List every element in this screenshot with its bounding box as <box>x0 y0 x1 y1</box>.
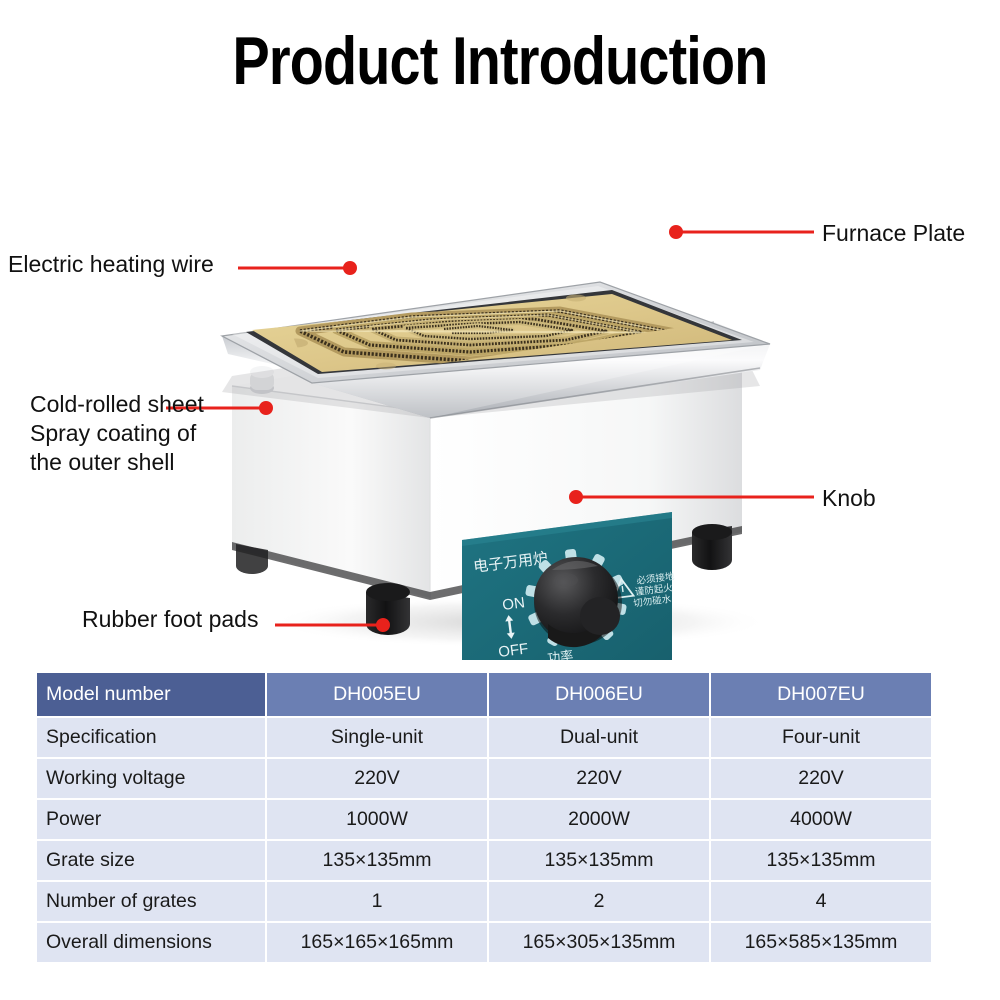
row-value: 165×585×135mm <box>711 923 931 962</box>
table-row: Overall dimensions 165×165×165mm 165×305… <box>37 923 931 962</box>
table-header-dh006eu: DH006EU <box>489 673 709 716</box>
table-row: Working voltage 220V 220V 220V <box>37 759 931 798</box>
panel-on-label: ON <box>501 594 525 614</box>
table-header-row: Model number DH005EU DH006EU DH007EU <box>37 673 931 716</box>
row-label: Power <box>37 800 265 839</box>
table-body: Specification Single-unit Dual-unit Four… <box>37 718 931 962</box>
table-row: Grate size 135×135mm 135×135mm 135×135mm <box>37 841 931 880</box>
row-value: 220V <box>711 759 931 798</box>
row-value: 165×165×165mm <box>267 923 487 962</box>
row-value: Dual-unit <box>489 718 709 757</box>
table-header-model-number: Model number <box>37 673 265 716</box>
callout-cold-rolled-sheet: Cold-rolled sheet Spray coating of the o… <box>30 390 204 477</box>
row-value: 4000W <box>711 800 931 839</box>
table-row: Specification Single-unit Dual-unit Four… <box>37 718 931 757</box>
row-label: Grate size <box>37 841 265 880</box>
row-value: 165×305×135mm <box>489 923 709 962</box>
row-value: 135×135mm <box>711 841 931 880</box>
row-label: Working voltage <box>37 759 265 798</box>
row-value: 135×135mm <box>267 841 487 880</box>
row-value: Single-unit <box>267 718 487 757</box>
callout-knob: Knob <box>822 484 876 513</box>
table-header-dh005eu: DH005EU <box>267 673 487 716</box>
row-value: 1 <box>267 882 487 921</box>
row-value: 2000W <box>489 800 709 839</box>
table-row: Power 1000W 2000W 4000W <box>37 800 931 839</box>
row-value: Four-unit <box>711 718 931 757</box>
rubber-foot-right <box>692 524 732 570</box>
panel-off-label: OFF <box>497 640 529 660</box>
table-header-dh007eu: DH007EU <box>711 673 931 716</box>
row-value: 220V <box>489 759 709 798</box>
callout-furnace-plate: Furnace Plate <box>822 219 965 248</box>
row-value: 4 <box>711 882 931 921</box>
row-value: 135×135mm <box>489 841 709 880</box>
product-illustration: 电子万用炉 ON OFF <box>0 100 1000 660</box>
row-label: Specification <box>37 718 265 757</box>
row-value: 220V <box>267 759 487 798</box>
row-label: Overall dimensions <box>37 923 265 962</box>
callout-electric-heating-wire: Electric heating wire <box>8 250 214 279</box>
specification-table: Model number DH005EU DH006EU DH007EU Spe… <box>35 671 933 964</box>
panel-warning-text: 必须接地 谨防起火 切勿碰水 <box>630 570 678 609</box>
row-value: 2 <box>489 882 709 921</box>
row-value: 1000W <box>267 800 487 839</box>
product-introduction-page: Product Introduction <box>0 0 1000 1000</box>
table-row: Number of grates 1 2 4 <box>37 882 931 921</box>
rubber-foot-front <box>366 583 410 635</box>
page-title: Product Introduction <box>90 22 910 100</box>
callout-rubber-foot-pads: Rubber foot pads <box>82 605 258 634</box>
row-label: Number of grates <box>37 882 265 921</box>
